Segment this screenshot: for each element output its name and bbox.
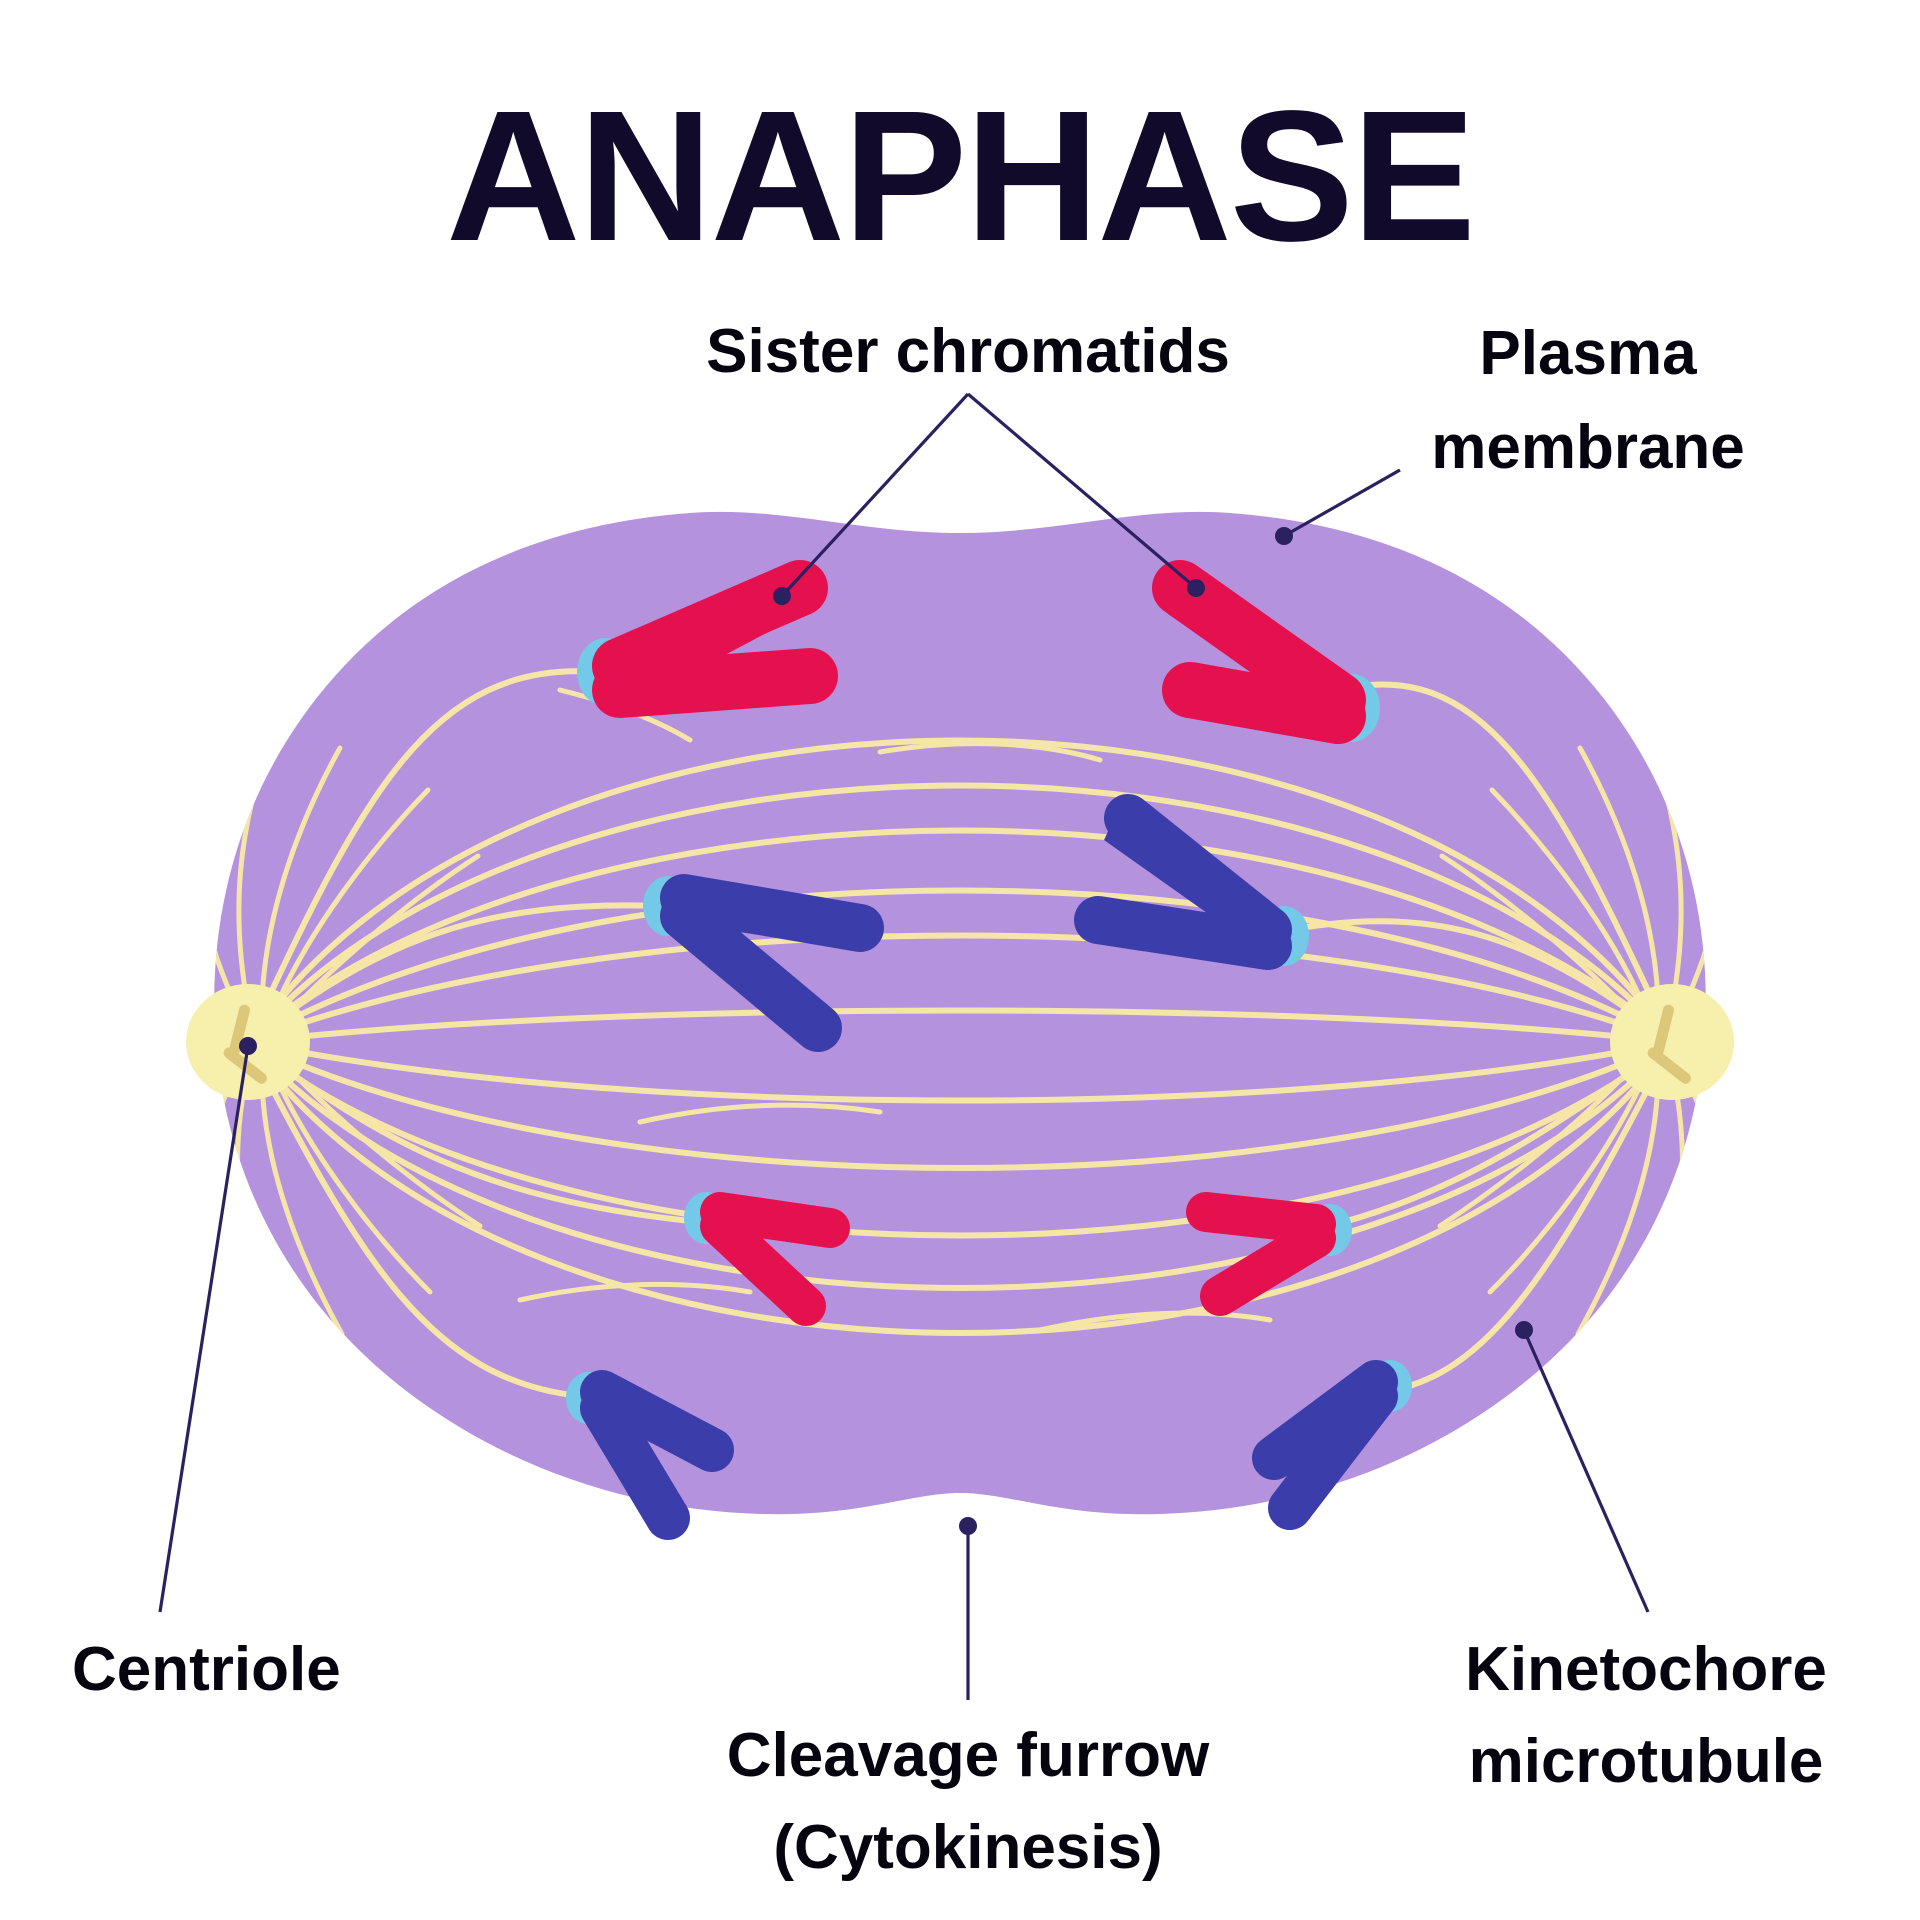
anaphase-illustration: ANAPHASE: [0, 0, 1920, 1920]
label-plasma-membrane-line2: membrane: [1431, 413, 1745, 482]
diagram-canvas: ANAPHASE: [0, 0, 1920, 1920]
label-kinetochore-microtubule-line1: Kinetochore: [1465, 1635, 1827, 1704]
centriole-right: [1610, 984, 1734, 1100]
label-cleavage-furrow-line1: Cleavage furrow: [727, 1721, 1210, 1790]
label-sister-chromatids: Sister chromatids: [706, 317, 1230, 386]
page-title: ANAPHASE: [446, 73, 1474, 280]
label-centriole: Centriole: [72, 1635, 341, 1704]
label-kinetochore-microtubule-line2: microtubule: [1469, 1727, 1824, 1796]
label-plasma-membrane-line1: Plasma: [1479, 319, 1697, 388]
label-cleavage-furrow-line2: (Cytokinesis): [773, 1813, 1162, 1882]
